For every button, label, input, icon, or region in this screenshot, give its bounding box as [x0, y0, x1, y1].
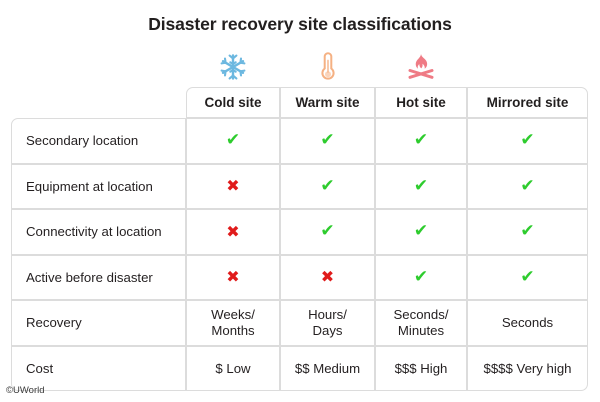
- check-icon: ✔: [320, 223, 334, 240]
- campfire-icon: [406, 52, 436, 82]
- cell-cross: ✖: [186, 209, 280, 255]
- table-header-row: Cold site Warm site Hot site Mirrored si…: [11, 87, 588, 118]
- table-row: Connectivity at location✖✔✔✔: [11, 209, 588, 255]
- cell-check: ✔: [280, 164, 375, 210]
- mirrored-icon-cell: [467, 48, 588, 86]
- cell-check: ✔: [375, 255, 467, 301]
- table-row: Secondary location✔✔✔✔: [11, 118, 588, 164]
- cell-text: Weeks/Months: [186, 300, 280, 346]
- row-label: Active before disaster: [11, 255, 186, 301]
- cell-cross: ✖: [186, 164, 280, 210]
- page-title: Disaster recovery site classifications: [0, 14, 600, 35]
- column-header-hot-site: Hot site: [375, 87, 467, 118]
- cross-icon: ✖: [226, 178, 239, 194]
- check-icon: ✔: [414, 132, 428, 149]
- snowflake-icon: [220, 53, 246, 81]
- table-body: Secondary location✔✔✔✔Equipment at locat…: [11, 118, 588, 391]
- column-header-cold-site: Cold site: [186, 87, 280, 118]
- table-row: Equipment at location✖✔✔✔: [11, 164, 588, 210]
- thermometer-icon-cell: [280, 48, 375, 86]
- cross-icon: ✖: [321, 269, 334, 285]
- cross-icon: ✖: [226, 269, 239, 285]
- cell-check: ✔: [280, 209, 375, 255]
- classification-table-container: Cold site Warm site Hot site Mirrored si…: [11, 87, 588, 391]
- cell-check: ✔: [375, 164, 467, 210]
- thermometer-icon: [319, 51, 337, 83]
- cell-check: ✔: [186, 118, 280, 164]
- cell-text: $$ Medium: [280, 346, 375, 392]
- check-icon: ✔: [414, 178, 428, 195]
- cross-icon: ✖: [226, 224, 239, 240]
- cell-text: $ Low: [186, 346, 280, 392]
- cell-cross: ✖: [280, 255, 375, 301]
- column-header-warm-site: Warm site: [280, 87, 375, 118]
- check-icon: ✔: [414, 269, 428, 286]
- campfire-icon-cell: [375, 48, 467, 86]
- cell-text: $$$$ Very high: [467, 346, 588, 392]
- snowflake-icon-cell: [186, 48, 280, 86]
- row-label: Secondary location: [11, 118, 186, 164]
- classification-table: Cold site Warm site Hot site Mirrored si…: [11, 87, 588, 391]
- cell-text: Hours/Days: [280, 300, 375, 346]
- cell-check: ✔: [467, 209, 588, 255]
- check-icon: ✔: [520, 223, 534, 240]
- cell-check: ✔: [375, 209, 467, 255]
- cell-check: ✔: [467, 118, 588, 164]
- check-icon: ✔: [520, 178, 534, 195]
- check-icon: ✔: [520, 132, 534, 149]
- cell-cross: ✖: [186, 255, 280, 301]
- column-header-mirrored-site: Mirrored site: [467, 87, 588, 118]
- cell-check: ✔: [467, 255, 588, 301]
- cell-check: ✔: [467, 164, 588, 210]
- check-icon: ✔: [320, 178, 334, 195]
- cell-text: Seconds/Minutes: [375, 300, 467, 346]
- check-icon: ✔: [226, 132, 240, 149]
- row-label: Connectivity at location: [11, 209, 186, 255]
- row-label: Recovery: [11, 300, 186, 346]
- cell-check: ✔: [280, 118, 375, 164]
- table-row: Active before disaster✖✖✔✔: [11, 255, 588, 301]
- cell-check: ✔: [375, 118, 467, 164]
- column-icon-strip: [186, 48, 588, 86]
- check-icon: ✔: [320, 132, 334, 149]
- row-label: Equipment at location: [11, 164, 186, 210]
- check-icon: ✔: [520, 269, 534, 286]
- check-icon: ✔: [414, 223, 428, 240]
- cell-text: $$$ High: [375, 346, 467, 392]
- cell-text: Seconds: [467, 300, 588, 346]
- table-row: RecoveryWeeks/MonthsHours/DaysSeconds/Mi…: [11, 300, 588, 346]
- table-corner-cell: [11, 87, 186, 118]
- table-row: Cost$ Low$$ Medium$$$ High$$$$ Very high: [11, 346, 588, 392]
- copyright-notice: ©UWorld: [6, 385, 45, 396]
